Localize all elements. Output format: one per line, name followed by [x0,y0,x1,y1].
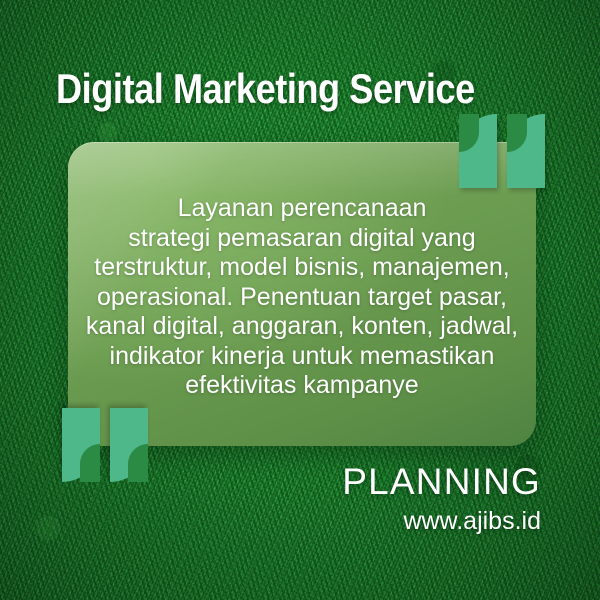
footer-website: www.ajibs.id [342,506,541,536]
quote-mark-closing-icon [459,114,545,188]
footer: PLANNING www.ajibs.id [342,462,541,536]
body-line: strategi pemasaran digital yang [82,224,522,254]
page-title: Digital Marketing Service [56,66,475,112]
quote-mark-opening-icon [62,408,148,482]
body-line: efektivitas kampanye [82,371,522,401]
poster-canvas: Digital Marketing Service Layanan perenc… [0,0,600,600]
card-body-text: Layanan perencanaan strategi pemasaran d… [82,194,522,401]
body-line: terstruktur, model bisnis, manajemen, [82,253,522,283]
quote-stroke-left [459,114,497,188]
body-line: Layanan perencanaan [82,194,522,224]
body-line: operasional. Penentuan target pasar, [82,283,522,313]
body-line: kanal digital, anggaran, konten, jadwal, [82,312,522,342]
quote-stroke-right [62,408,100,482]
quote-stroke-right [507,114,545,188]
footer-label: PLANNING [342,462,541,502]
body-line: indikator kinerja untuk memastikan [82,342,522,372]
quote-stroke-left [110,408,148,482]
